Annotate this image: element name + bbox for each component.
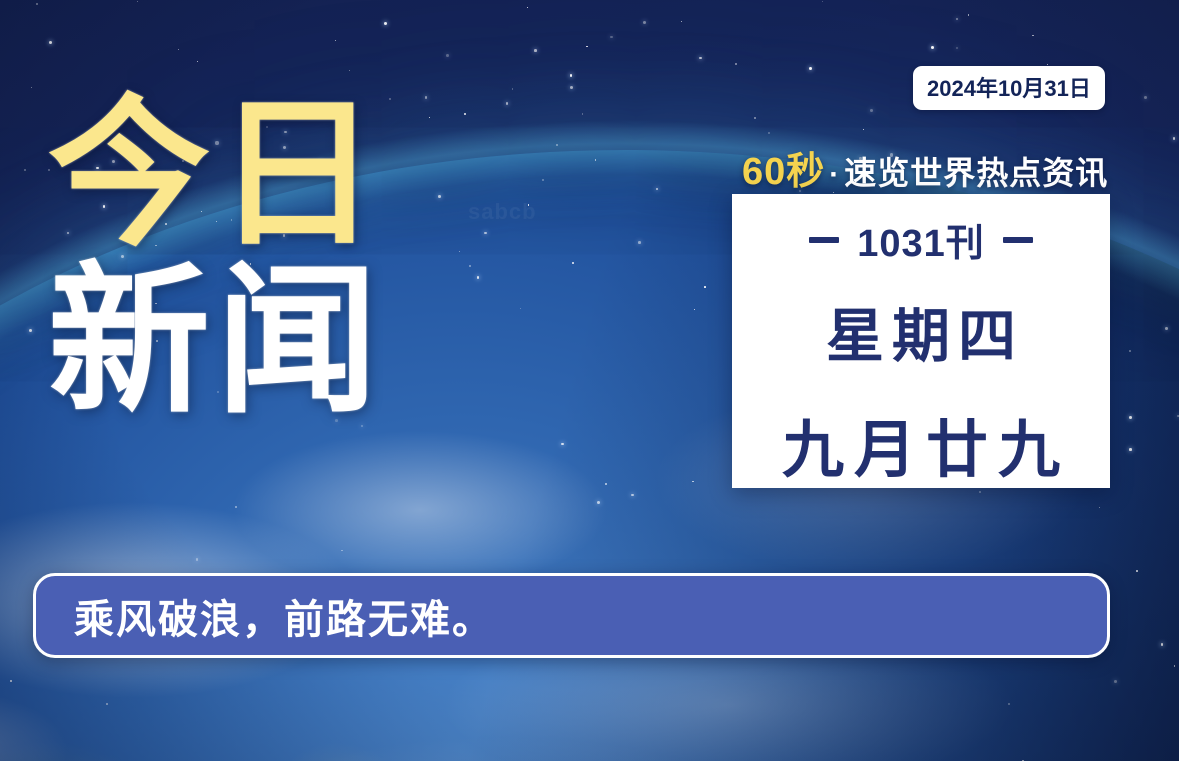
- issue-number: 1031刊: [857, 212, 985, 267]
- weekday-label: 星期四: [818, 289, 1024, 373]
- tagline-separator: ·: [825, 158, 844, 191]
- title-line-xinwen: 新闻: [48, 263, 384, 422]
- issue-dash-left-icon: [809, 237, 839, 243]
- news-poster: sabcb 今日 新闻 2024年10月31日 60秒·速览世界热点资讯 103…: [0, 0, 1179, 761]
- tagline: 60秒·速览世界热点资讯: [742, 140, 1108, 195]
- poster-title: 今日 新闻: [48, 96, 384, 422]
- quote-text: 乘风破浪，前路无难。: [74, 587, 494, 645]
- date-card: 1031刊 星期四 九月廿九: [732, 194, 1110, 488]
- tagline-description: 速览世界热点资讯: [844, 155, 1108, 191]
- title-line-jinri: 今日: [48, 96, 384, 255]
- issue-dash-right-icon: [1003, 237, 1033, 243]
- watermark-text: sabcb: [468, 199, 537, 225]
- quote-banner: 乘风破浪，前路无难。: [33, 573, 1110, 658]
- date-badge: 2024年10月31日: [913, 66, 1105, 110]
- tagline-seconds: 60秒: [742, 151, 825, 193]
- lunar-date-label: 九月廿九: [772, 399, 1070, 489]
- issue-row: 1031刊: [809, 212, 1033, 267]
